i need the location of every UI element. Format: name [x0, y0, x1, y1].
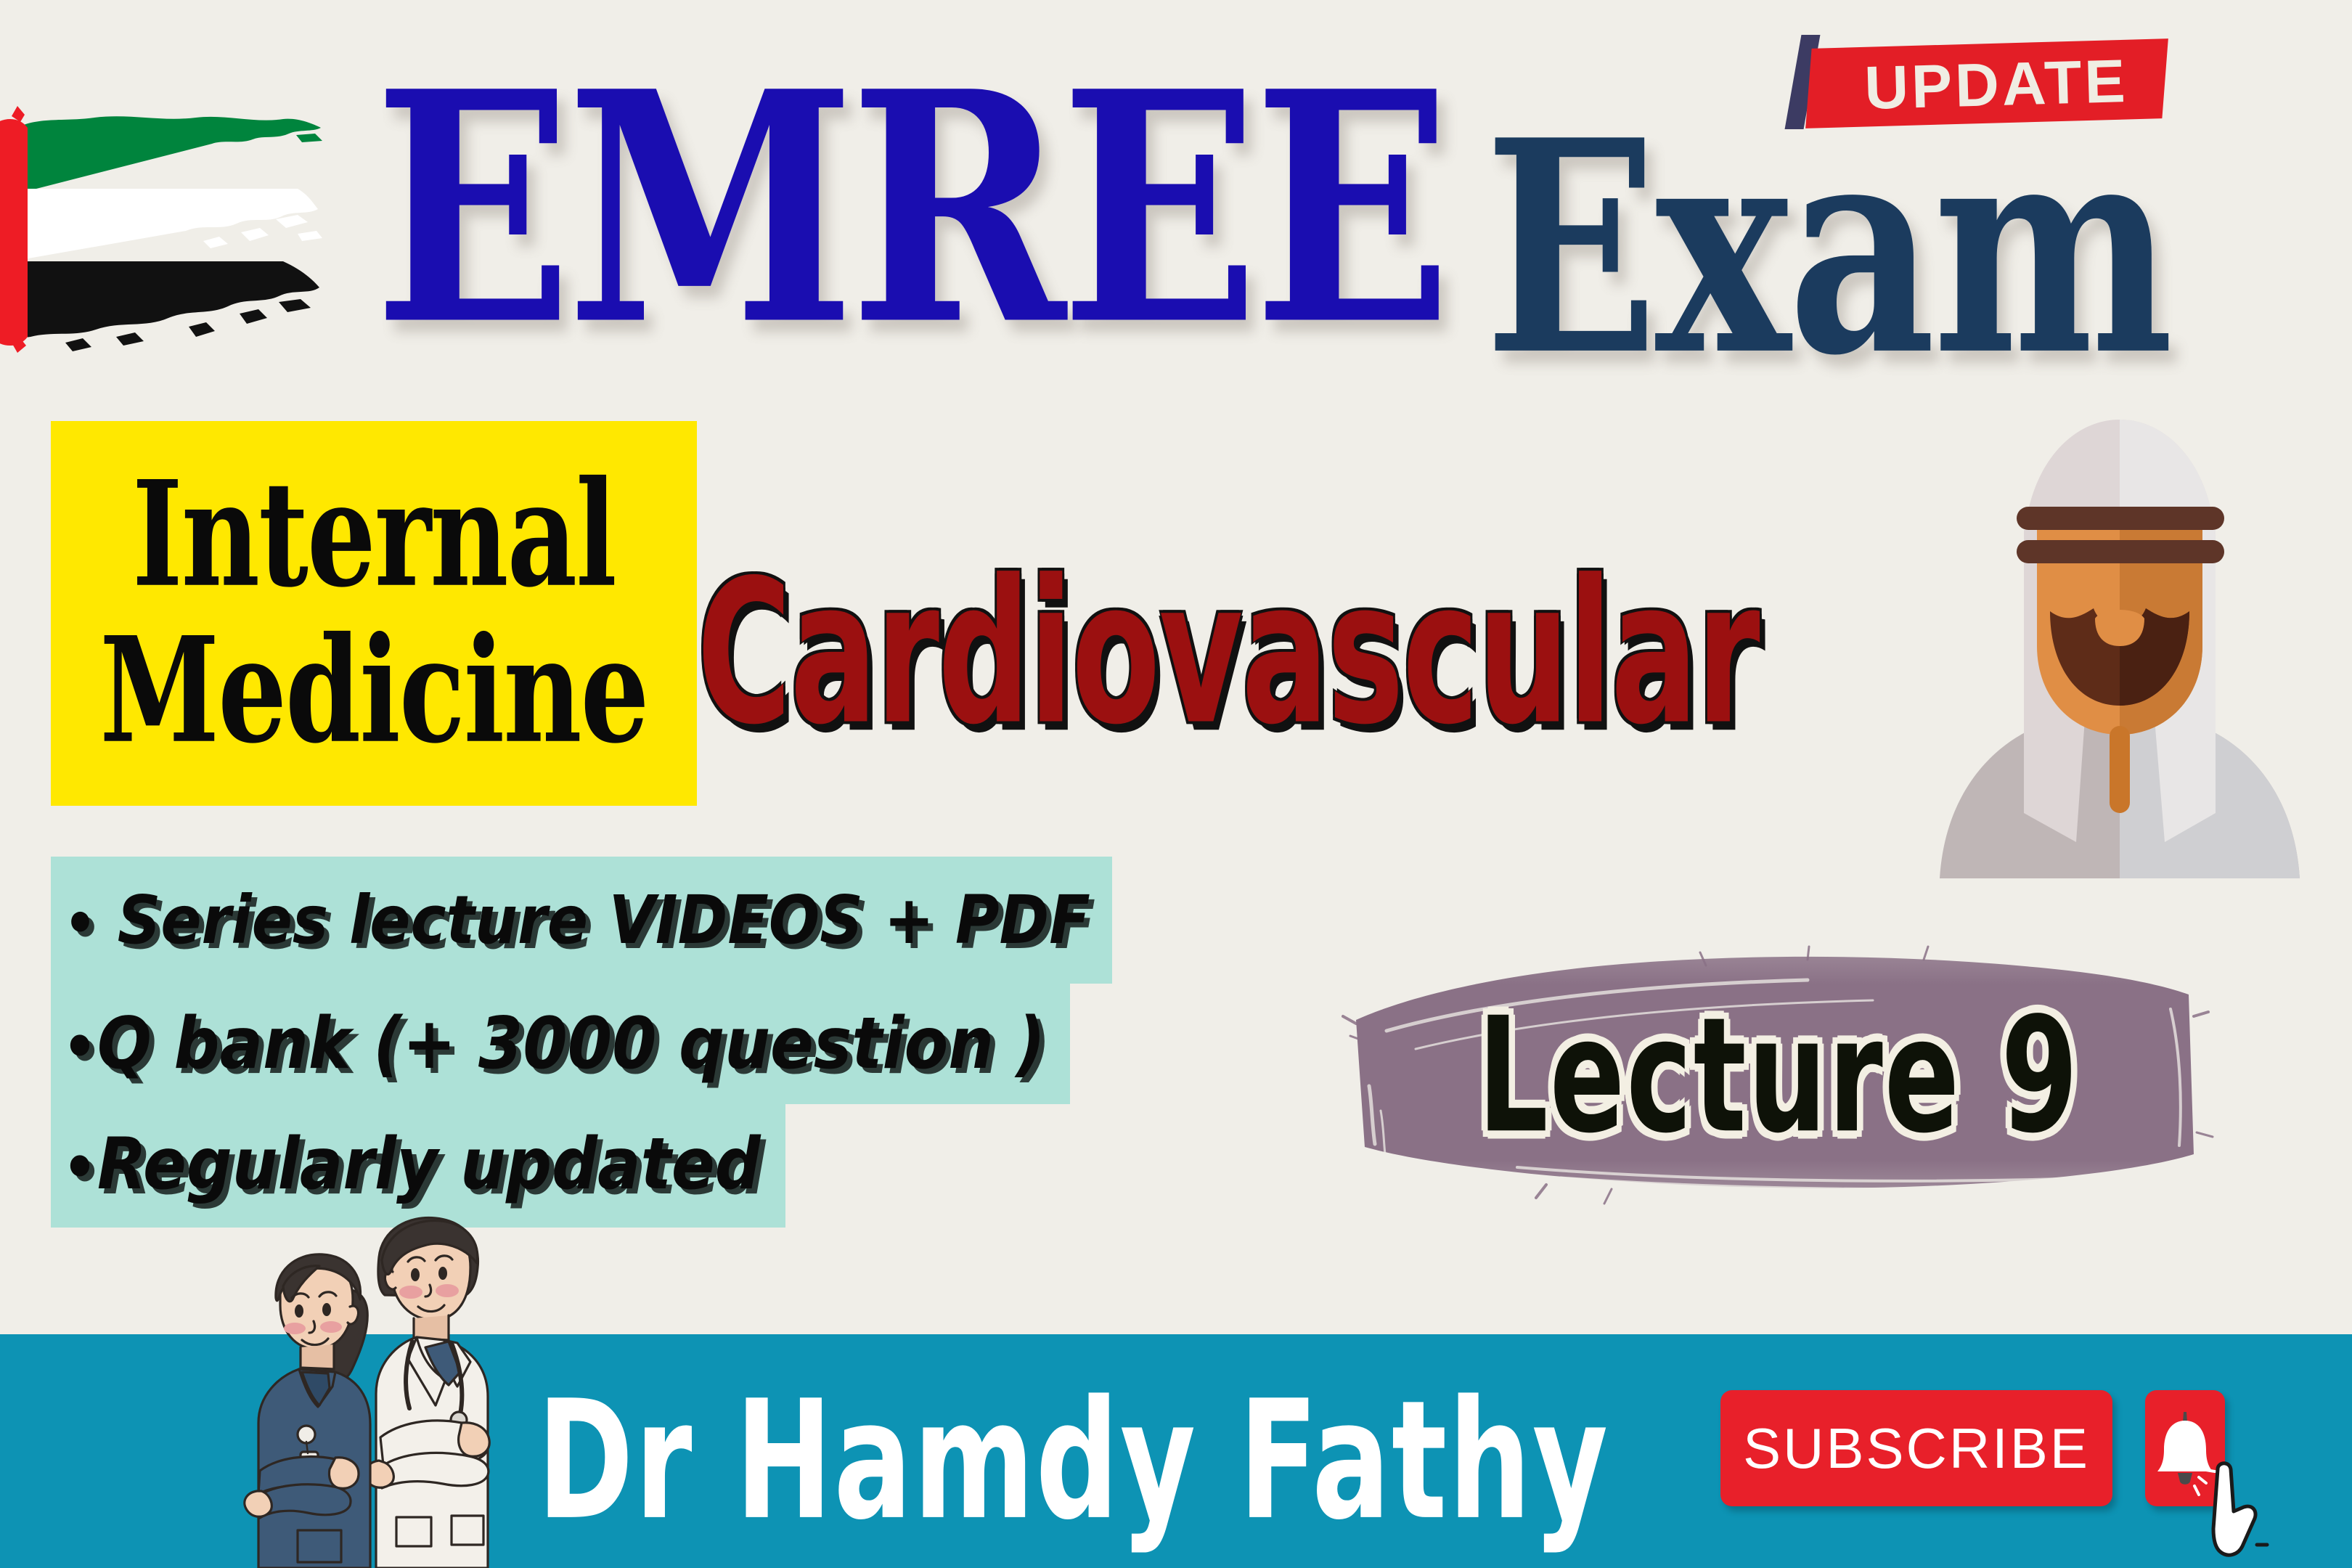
subscribe-button[interactable]: SUBSCRIBE — [1720, 1390, 2112, 1506]
lecture-badge: Lecture 9 — [1299, 915, 2258, 1220]
thumbnail-poster: EMREE Exam UPDATE Internal Medicine Card… — [0, 0, 2352, 1568]
update-badge-label: UPDATE — [1836, 48, 2157, 122]
bullet-icon: • — [62, 1132, 97, 1203]
lecture-badge-label: Lecture 9 — [1314, 984, 2243, 1169]
feature-item-2: •Q bank (+ 3000 question ) — [51, 984, 1070, 1104]
list-item: • Series lecture VIDEOS + PDF — [51, 857, 1227, 984]
list-item: •Q bank (+ 3000 question ) — [51, 984, 1227, 1104]
topic-title: Cardiovascular — [697, 537, 1759, 769]
feature-item-1-label: Series lecture VIDEOS + PDF — [118, 881, 1090, 959]
feature-item-3-label: Regularly updated — [97, 1123, 761, 1206]
pointing-hand-cursor-icon — [2196, 1459, 2276, 1561]
uae-flag-brush-icon — [0, 87, 327, 363]
feature-list: • Series lecture VIDEOS + PDF •Q bank (+… — [51, 857, 1227, 1228]
brand-title-exam: Exam — [1485, 102, 2171, 394]
feature-item-2-label: Q bank (+ 3000 question ) — [97, 1003, 1045, 1085]
bullet-icon: • — [62, 1012, 97, 1082]
author-name: Dr Hamdy Fathy — [537, 1365, 1609, 1556]
bullet-icon: • — [64, 891, 97, 957]
update-badge: UPDATE — [1793, 44, 2163, 127]
feature-item-1: • Series lecture VIDEOS + PDF — [51, 857, 1112, 984]
two-doctors-illustration — [218, 1205, 566, 1568]
subject-box: Internal Medicine — [51, 421, 697, 806]
subject-line-1: Internal — [73, 465, 674, 605]
subject-line-2: Medicine — [73, 621, 674, 761]
arab-man-avatar — [1895, 407, 2345, 878]
brand-title-emree: EMREE — [374, 51, 1446, 368]
